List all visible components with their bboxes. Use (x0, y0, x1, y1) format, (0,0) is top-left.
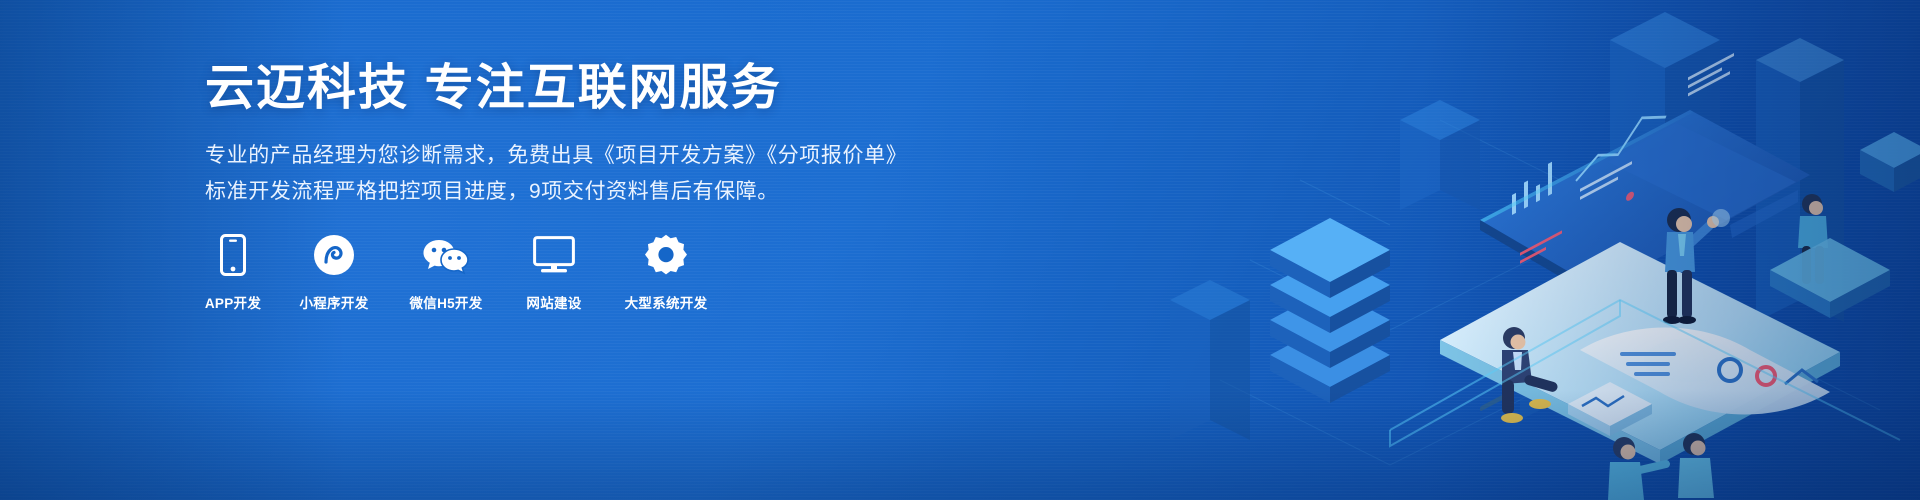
monitor-icon (533, 232, 575, 276)
gear-icon (645, 232, 687, 276)
service-item-large-system[interactable]: 大型系统开发 (623, 232, 709, 312)
mobile-phone-icon (220, 232, 246, 276)
page-title: 云迈科技 专注互联网服务 (205, 60, 965, 116)
subtitle-line-2: 标准开发流程严格把控项目进度，9项交付资料售后有保障。 (205, 174, 965, 210)
service-label: APP开发 (205, 292, 261, 312)
service-label: 网站建设 (526, 292, 581, 312)
hero-subtitle: 专业的产品经理为您诊断需求，免费出具《项目开发方案》《分项报价单》 标准开发流程… (205, 138, 965, 210)
illustration-isometric-data-dashboard-scene (920, 0, 1920, 500)
service-item-wechat-h5[interactable]: 微信H5开发 (407, 232, 485, 312)
service-item-website[interactable]: 网站建设 (519, 232, 589, 312)
service-label: 大型系统开发 (625, 292, 708, 312)
service-list: APP开发 小程序开发 微信 (205, 232, 709, 312)
hero-copy: 云迈科技 专注互联网服务 专业的产品经理为您诊断需求，免费出具《项目开发方案》《… (205, 60, 965, 211)
hero-banner: 云迈科技 专注互联网服务 专业的产品经理为您诊断需求，免费出具《项目开发方案》《… (0, 0, 1920, 500)
wechat-icon (422, 232, 470, 276)
service-label: 微信H5开发 (409, 292, 482, 312)
subtitle-line-1: 专业的产品经理为您诊断需求，免费出具《项目开发方案》《分项报价单》 (205, 138, 965, 174)
service-item-mini-program[interactable]: 小程序开发 (295, 232, 373, 312)
service-label: 小程序开发 (300, 292, 369, 312)
mini-program-icon (313, 232, 355, 276)
service-item-app[interactable]: APP开发 (205, 232, 261, 312)
